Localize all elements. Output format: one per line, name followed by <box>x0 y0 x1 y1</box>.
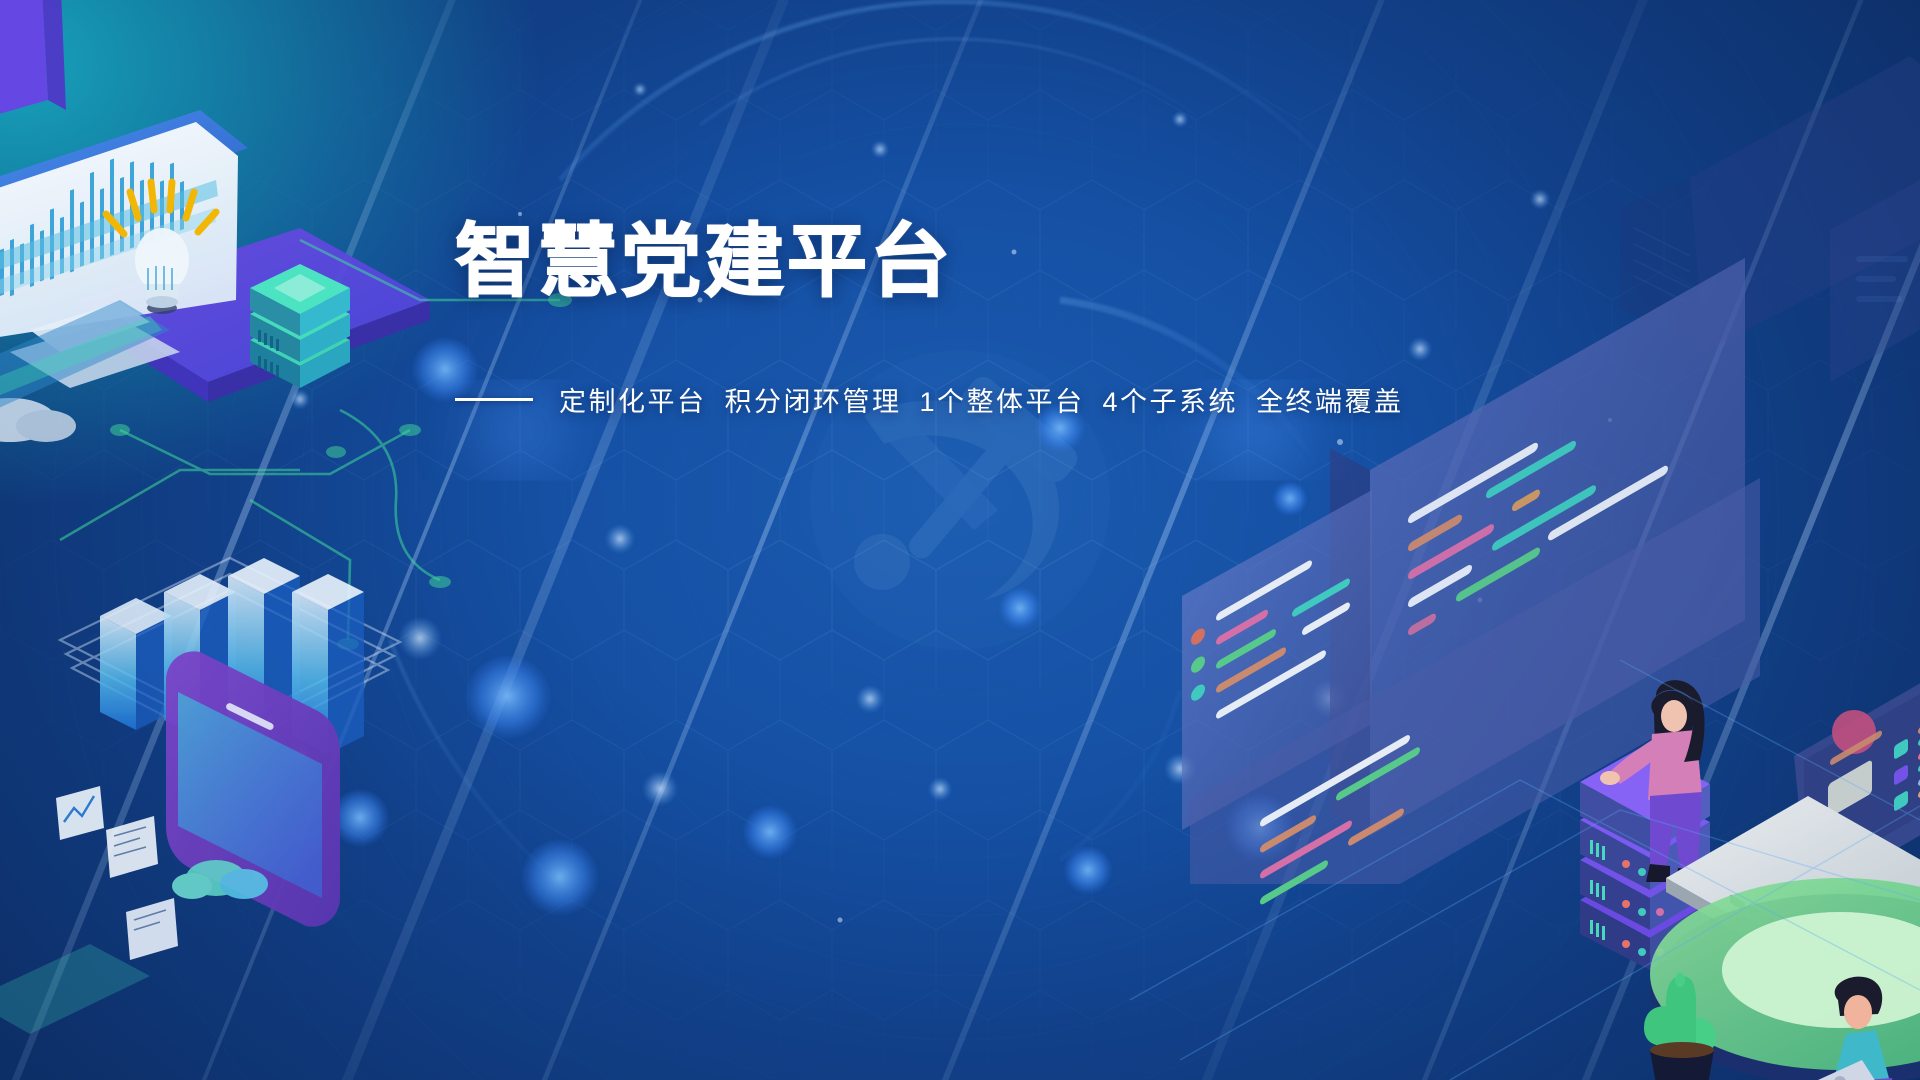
subtitle-item: 全终端覆盖 <box>1256 387 1404 417</box>
center-glow <box>0 0 1920 1080</box>
subtitle-item: 4个子系统 <box>1103 387 1239 417</box>
subtitle-row: 定制化平台积分闭环管理1个整体平台4个子系统全终端覆盖 <box>455 380 1455 419</box>
page-title: 智慧党建平台 <box>455 222 1455 302</box>
subtitle-item: 1个整体平台 <box>920 387 1085 417</box>
subtitle-dash <box>455 398 533 401</box>
subtitle-item: 定制化平台 <box>559 387 707 417</box>
subtitle-text: 定制化平台积分闭环管理1个整体平台4个子系统全终端覆盖 <box>559 380 1404 419</box>
hero-text-block: 智慧党建平台 定制化平台积分闭环管理1个整体平台4个子系统全终端覆盖 <box>455 222 1455 419</box>
hero-banner: 智慧党建平台 定制化平台积分闭环管理1个整体平台4个子系统全终端覆盖 <box>0 0 1920 1080</box>
subtitle-item: 积分闭环管理 <box>725 387 902 417</box>
